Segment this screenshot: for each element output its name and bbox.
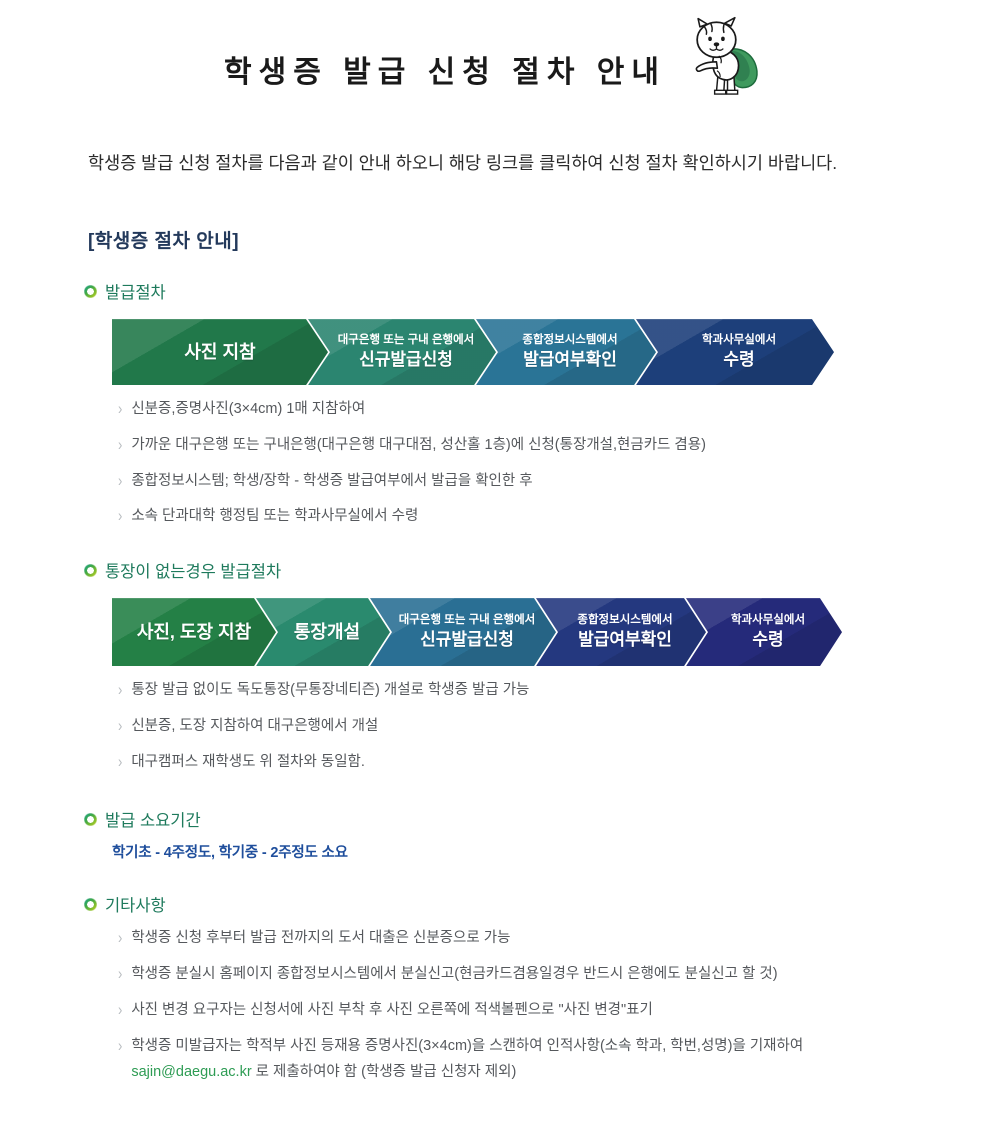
flow-step-main: 신규발급신청 [359, 350, 453, 370]
duration-note: 학기초 - 4주정도, 학기중 - 2주정도 소요 [112, 841, 992, 862]
list-item-text: 신분증, 도장 지참하여 대구은행에서 개설 [131, 716, 992, 738]
chevron-right-icon: › [118, 926, 122, 951]
flow-diagram-issuance: 사진 지참 대구은행 또는 구내 은행에서 신규발급신청 종합정보시스템에서 발… [112, 319, 874, 385]
ring-bullet-icon [84, 898, 97, 911]
list-item-text: 통장 발급 없이도 독도통장(무통장네티즌) 개설로 학생증 발급 가능 [131, 680, 992, 702]
list-item-text: 가까운 대구은행 또는 구내은행(대구은행 대구대점, 성산홀 1층)에 신청(… [131, 435, 992, 457]
chevron-right-icon: › [118, 749, 122, 774]
list-item: › 사진 변경 요구자는 신청서에 사진 부착 후 사진 오른쪽에 적색볼펜으로… [118, 1000, 992, 1022]
flow-step-1: 사진, 도장 지참 [112, 598, 276, 666]
subsection-label: 발급절차 [105, 279, 166, 303]
list-item: › 학생증 신청 후부터 발급 전까지의 도서 대출은 신분증으로 가능 [118, 928, 992, 950]
list-item-text: 소속 단과대학 행정팀 또는 학과사무실에서 수령 [131, 506, 992, 528]
flow-step-2: 대구은행 또는 구내 은행에서 신규발급신청 [308, 319, 496, 385]
list-item: › 소속 단과대학 행정팀 또는 학과사무실에서 수령 [118, 506, 992, 528]
list-item: › 종합정보시스템; 학생/장학 - 학생증 발급여부에서 발급을 확인한 후 [118, 471, 992, 493]
flow-step-top: 대구은행 또는 구내 은행에서 [399, 614, 536, 628]
ring-bullet-icon [84, 813, 97, 826]
list-item: › 통장 발급 없이도 독도통장(무통장네티즌) 개설로 학생증 발급 가능 [118, 680, 992, 702]
title-row: 학생증 발급 신청 절차 안내 [0, 0, 992, 106]
chevron-right-icon: › [118, 678, 122, 703]
list-item: › 신분증,증명사진(3×4cm) 1매 지참하여 [118, 399, 992, 421]
chevron-right-icon: › [118, 397, 122, 422]
bullet-list-no-bankbook: › 통장 발급 없이도 독도통장(무통장네티즌) 개설로 학생증 발급 가능 ›… [118, 680, 992, 773]
list-item-text: 사진 변경 요구자는 신청서에 사진 부착 후 사진 오른쪽에 적색볼펜으로 "… [131, 1000, 992, 1022]
bullet-list-issuance: › 신분증,증명사진(3×4cm) 1매 지참하여 › 가까운 대구은행 또는 … [118, 399, 992, 528]
intro-text: 학생증 발급 신청 절차를 다음과 같이 안내 하오니 해당 링크를 클릭하여 … [88, 153, 837, 173]
chevron-right-icon: › [118, 962, 122, 987]
list-item-text: 신분증,증명사진(3×4cm) 1매 지참하여 [131, 399, 992, 421]
chevron-right-icon: › [118, 997, 122, 1022]
subsection-label: 발급 소요기간 [105, 807, 201, 831]
flow-step-3: 종합정보시스템에서 발급여부확인 [476, 319, 656, 385]
email-tail-text: 로 제출하여야 함 (학생증 발급 신청자 제외) [252, 1064, 517, 1080]
flow-step-main: 신규발급신청 [420, 630, 514, 650]
chevron-right-icon: › [118, 432, 122, 457]
list-item-text: 종합정보시스템; 학생/장학 - 학생증 발급여부에서 발급을 확인한 후 [131, 471, 992, 493]
email-link[interactable]: sajin@daegu.ac.kr [131, 1064, 251, 1080]
flow-step-top: 학과사무실에서 [731, 614, 805, 628]
bullet-list-other: › 학생증 신청 후부터 발급 전까지의 도서 대출은 신분증으로 가능 › 학… [118, 928, 992, 1084]
document-header: 학생증 발급 신청 절차 안내 [0, 0, 992, 118]
list-item-email: › 학생증 미발급자는 학적부 사진 등재용 증명사진(3×4cm)을 스캔하여… [118, 1036, 992, 1085]
list-item-text: 대구캠퍼스 재학생도 위 절차와 동일함. [131, 752, 992, 774]
subsection-header-no-bankbook: 통장이 없는경우 발급절차 [84, 558, 992, 582]
intro-paragraph: 학생증 발급 신청 절차를 다음과 같이 안내 하오니 해당 링크를 클릭하여 … [62, 146, 936, 180]
subsection-label: 기타사항 [105, 892, 166, 916]
tiger-mascot-icon [676, 14, 768, 106]
ring-bullet-icon [84, 564, 97, 577]
flow-step-3: 대구은행 또는 구내 은행에서 신규발급신청 [370, 598, 556, 666]
chevron-right-icon: › [118, 1033, 122, 1058]
list-item-text: 학생증 분실시 홈페이지 종합정보시스템에서 분실신고(현금카드겸용일경우 반드… [131, 964, 992, 986]
subsection-header-other: 기타사항 [84, 892, 992, 916]
flow-step-main: 발급여부확인 [523, 350, 617, 370]
list-item: › 가까운 대구은행 또는 구내은행(대구은행 대구대점, 성산홀 1층)에 신… [118, 435, 992, 457]
section-heading: [학생증 절차 안내] [88, 226, 992, 253]
list-item: › 대구캠퍼스 재학생도 위 절차와 동일함. [118, 752, 992, 774]
list-item-line2: sajin@daegu.ac.kr 로 제출하여야 함 (학생증 발급 신청자 … [131, 1062, 992, 1084]
subsection-header-duration: 발급 소요기간 [84, 807, 992, 831]
flow-step-top: 학과사무실에서 [702, 334, 776, 348]
list-item: › 학생증 분실시 홈페이지 종합정보시스템에서 분실신고(현금카드겸용일경우 … [118, 964, 992, 986]
flow-step-main: 발급여부확인 [578, 630, 672, 650]
flow-step-2: 통장개설 [256, 598, 390, 666]
chevron-right-icon: › [118, 713, 122, 738]
flow-step-1: 사진 지참 [112, 319, 328, 385]
chevron-right-icon: › [118, 504, 122, 529]
ring-bullet-icon [84, 285, 97, 298]
flow-step-top: 종합정보시스템에서 [522, 334, 617, 348]
flow-step-main: 수령 [723, 350, 754, 370]
list-item-line1: 학생증 미발급자는 학적부 사진 등재용 증명사진(3×4cm)을 스캔하여 인… [131, 1038, 803, 1054]
chevron-right-icon: › [118, 468, 122, 493]
flow-step-main: 사진, 도장 지참 [137, 622, 251, 643]
subsection-label: 통장이 없는경우 발급절차 [105, 558, 281, 582]
flow-step-top: 대구은행 또는 구내 은행에서 [338, 334, 475, 348]
flow-step-4: 종합정보시스템에서 발급여부확인 [536, 598, 706, 666]
list-item: › 신분증, 도장 지참하여 대구은행에서 개설 [118, 716, 992, 738]
flow-step-main: 수령 [752, 630, 783, 650]
flow-diagram-no-bankbook: 사진, 도장 지참 통장개설 대구은행 또는 구내 은행에서 신규발급신청 종합… [112, 598, 882, 666]
subsection-header-issuance-procedure: 발급절차 [84, 279, 992, 303]
list-item-text: 학생증 신청 후부터 발급 전까지의 도서 대출은 신분증으로 가능 [131, 928, 992, 950]
flow-step-4: 학과사무실에서 수령 [636, 319, 834, 385]
page-title: 학생증 발급 신청 절차 안내 [224, 47, 666, 91]
list-item-text: 학생증 미발급자는 학적부 사진 등재용 증명사진(3×4cm)을 스캔하여 인… [131, 1036, 992, 1085]
flow-step-top: 종합정보시스템에서 [577, 614, 672, 628]
flow-step-5: 학과사무실에서 수령 [686, 598, 842, 666]
flow-step-main: 통장개설 [294, 622, 360, 643]
flow-step-main: 사진 지참 [184, 342, 255, 363]
